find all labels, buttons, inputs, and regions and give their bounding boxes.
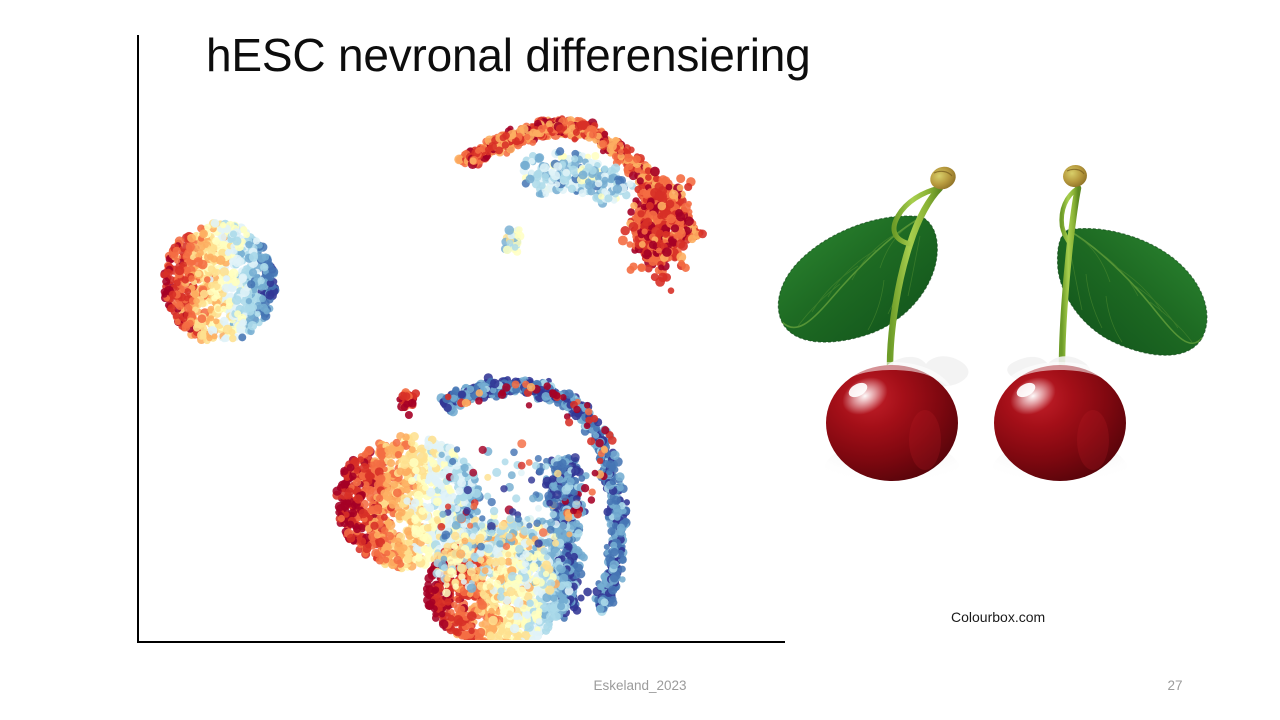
- cluster-small-isolated: [501, 225, 525, 255]
- cluster-main-lower: [332, 373, 630, 640]
- umap-scatter-plot: [140, 80, 760, 640]
- frame-horizontal-line: [137, 641, 785, 643]
- frame-vertical-line: [137, 35, 139, 643]
- photo-credit-label: Colourbox.com: [951, 609, 1045, 625]
- cluster-left-blob: [160, 219, 279, 344]
- footer-author: Eskeland_2023: [0, 678, 1280, 693]
- stem-knob-right: [1061, 163, 1089, 190]
- cluster-top-crescent: [454, 115, 707, 294]
- slide-canvas: hESC nevronal differensiering: [0, 0, 1280, 720]
- cherry-body-right: [994, 356, 1126, 481]
- footer-page-number: 27: [1140, 678, 1210, 693]
- page-title: hESC nevronal differensiering: [206, 28, 811, 82]
- cherry-photograph: [770, 140, 1220, 520]
- cherry-leaf-right: [1057, 228, 1206, 355]
